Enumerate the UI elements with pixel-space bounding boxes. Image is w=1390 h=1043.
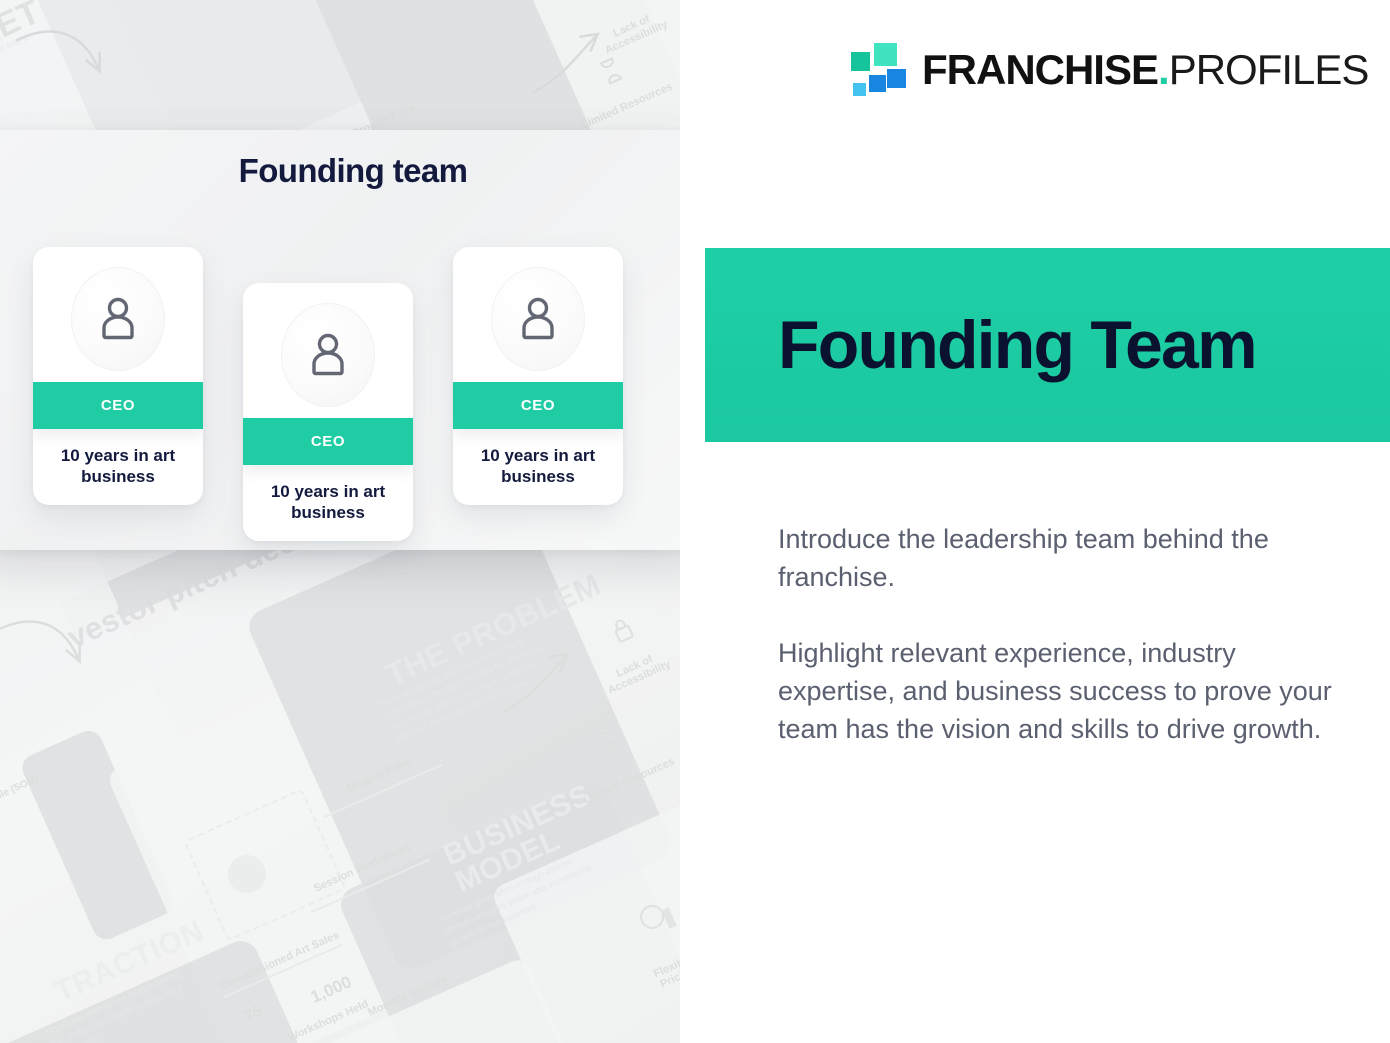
description-paragraph-2: Highlight relevant experience, industry … [778,634,1338,748]
card-note: 10 years in art business [243,481,413,523]
slide-preview-panel[interactable]: Founding team CEO 10 years in art busine… [0,130,706,550]
team-card[interactable]: CEO 10 years in art business [453,247,623,505]
avatar [243,297,413,413]
slide-preview-title: Founding team [0,152,706,190]
role-label: CEO [101,397,135,414]
role-badge: CEO [243,418,413,465]
avatar [33,261,203,377]
page-title: Founding Team [705,311,1256,379]
role-badge: CEO [453,382,623,429]
role-badge: CEO [33,382,203,429]
content-panel: FRANCHISE.PROFILES Founding Team Introdu… [680,0,1390,1043]
slide-canvas: KET NAME vestor pitch deck THE PROBLEM B… [0,0,1390,1043]
person-icon [515,294,561,344]
section-banner: Founding Team [705,248,1390,442]
logo-mark-icon [850,42,906,98]
logo-word-dot: . [1158,46,1169,93]
square-teal-large [874,43,897,66]
brand-logo[interactable]: FRANCHISE.PROFILES [850,42,1368,98]
logo-word-franchise: FRANCHISE [922,46,1158,93]
logo-wordmark: FRANCHISE.PROFILES [922,49,1368,91]
square-blue-large [887,69,906,88]
team-card[interactable]: CEO 10 years in art business [243,283,413,541]
square-blue-small [853,83,866,96]
description-paragraph-1: Introduce the leadership team behind the… [778,520,1338,596]
wallpaper-lock-icon-2 [608,615,639,648]
person-icon [95,294,141,344]
avatar [453,261,623,377]
card-note: 10 years in art business [453,445,623,487]
wallpaper-caption-accessibility-2: Lack of Accessibility [593,644,680,701]
square-teal-medium [851,52,870,71]
person-icon [305,330,351,380]
logo-word-profiles: PROFILES [1169,46,1369,93]
role-label: CEO [311,433,345,450]
role-label: CEO [521,397,555,414]
description-block: Introduce the leadership team behind the… [778,520,1338,748]
card-note: 10 years in art business [33,445,203,487]
square-blue-medium [869,75,886,92]
team-card[interactable]: CEO 10 years in art business [33,247,203,505]
